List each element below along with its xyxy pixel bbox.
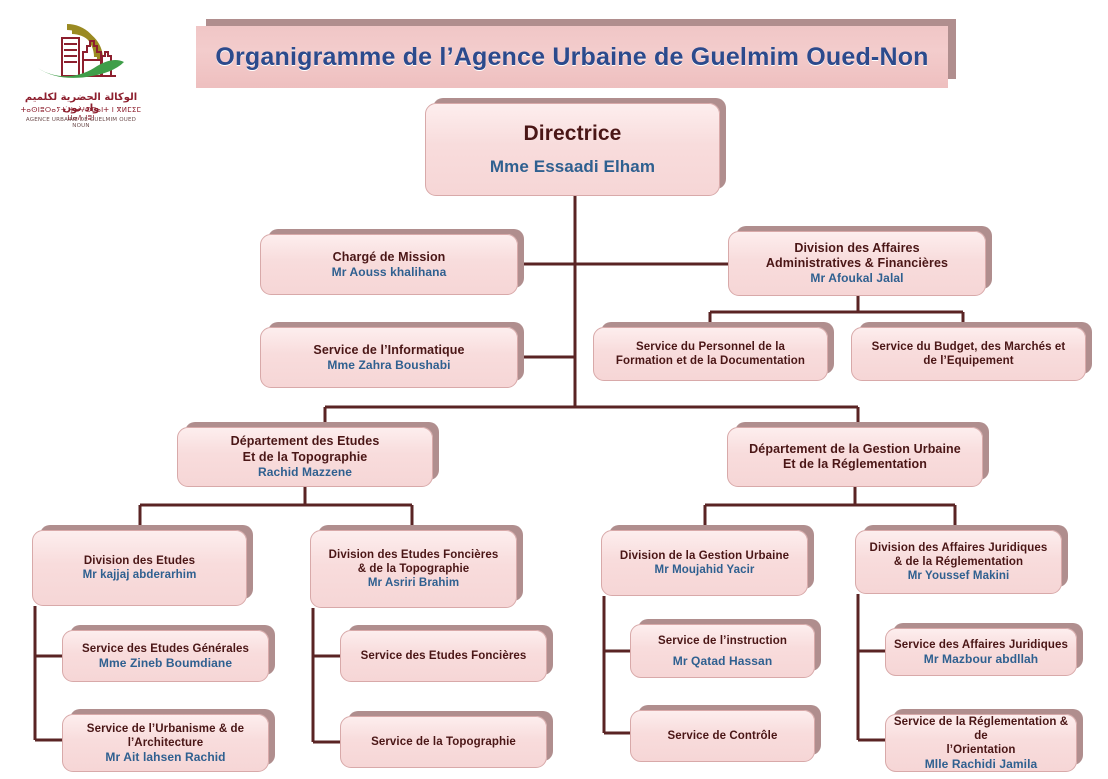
node-role: Service de la Topographie	[371, 735, 516, 749]
node-person: Mlle Rachidi Jamila	[925, 757, 1038, 772]
node-service-controle[interactable]: Service de Contrôle	[630, 710, 815, 762]
node-person: Mme Zahra Boushabi	[327, 358, 450, 373]
node-role-line1: Division des Etudes Foncières	[329, 548, 499, 562]
node-charge-de-mission[interactable]: Chargé de Mission Mr Aouss khalihana	[260, 234, 518, 295]
node-division-etudes[interactable]: Division des Etudes Mr kajjaj abderarhim	[32, 530, 247, 606]
node-division-etudes-foncieres-topographie[interactable]: Division des Etudes Foncières & de la To…	[310, 530, 517, 608]
node-service-reglementation-orientation[interactable]: Service de la Réglementation & de l’Orie…	[885, 714, 1077, 772]
node-role: Service de l’instruction	[658, 634, 787, 648]
node-role: Service des Etudes Foncières	[361, 649, 527, 663]
node-role-line2: l’Architecture	[128, 736, 204, 750]
node-person: Mr Asriri Brahim	[368, 576, 459, 590]
node-role-line1: Service de l’Urbanisme & de	[87, 722, 244, 736]
node-person: Mr Ait lahsen Rachid	[105, 750, 225, 765]
node-role-line1: Service de la Réglementation & de	[886, 715, 1076, 743]
node-role: Service de l’Informatique	[313, 343, 464, 358]
node-person: Mr Qatad Hassan	[673, 654, 773, 669]
node-division-affaires-administratives-financieres[interactable]: Division des Affaires Administratives & …	[728, 231, 986, 296]
page-title: Organigramme de l’Agence Urbaine de Guel…	[215, 43, 928, 72]
node-division-affaires-juridiques-reglementation[interactable]: Division des Affaires Juridiques & de la…	[855, 530, 1062, 594]
node-role: Division des Etudes	[84, 554, 195, 568]
chart-title-banner: Organigramme de l’Agence Urbaine de Guel…	[196, 26, 948, 88]
node-service-topographie[interactable]: Service de la Topographie	[340, 716, 547, 768]
node-person: Mr Youssef Makini	[908, 569, 1010, 583]
node-division-gestion-urbaine[interactable]: Division de la Gestion Urbaine Mr Moujah…	[601, 530, 808, 596]
node-service-informatique[interactable]: Service de l’Informatique Mme Zahra Bous…	[260, 327, 518, 388]
node-role: Directrice	[524, 121, 622, 147]
node-role-line1: Service du Budget, des Marchés et	[872, 340, 1066, 354]
node-role-line1: Service du Personnel de la	[636, 340, 785, 354]
node-person: Mr Moujahid Yacir	[655, 563, 755, 577]
logo-mark-icon	[20, 18, 142, 96]
node-role: Service des Affaires Juridiques	[894, 638, 1068, 652]
organigramme-canvas: الوكالة الحضرية لكلميم واد نون ⵜⴰⵙⵏⵓⵔⴰⵢⵜ…	[0, 0, 1108, 779]
node-person: Mme Essaadi Elham	[490, 157, 655, 178]
node-person: Mr Afoukal Jalal	[810, 271, 903, 286]
node-role: Chargé de Mission	[333, 250, 446, 265]
node-directrice[interactable]: Directrice Mme Essaadi Elham	[425, 103, 720, 196]
node-service-personnel-formation-documentation[interactable]: Service du Personnel de la Formation et …	[593, 327, 828, 381]
node-person: Rachid Mazzene	[258, 465, 352, 480]
node-departement-gestion-urbaine-reglementation[interactable]: Département de la Gestion Urbaine Et de …	[727, 427, 983, 487]
node-departement-etudes-topographie[interactable]: Département des Etudes Et de la Topograp…	[177, 427, 433, 487]
node-role-line1: Division des Affaires	[794, 241, 919, 256]
node-role: Service de Contrôle	[668, 729, 778, 743]
node-role-line2: & de la Réglementation	[894, 555, 1023, 569]
node-role-line2: Et de la Réglementation	[783, 457, 927, 472]
node-person: Mr Aouss khalihana	[332, 265, 447, 280]
node-role: Service des Etudes Générales	[82, 642, 249, 656]
node-service-affaires-juridiques[interactable]: Service des Affaires Juridiques Mr Mazbo…	[885, 628, 1077, 676]
node-service-urbanisme-architecture[interactable]: Service de l’Urbanisme & de l’Architectu…	[62, 714, 269, 772]
node-role: Division de la Gestion Urbaine	[620, 549, 789, 563]
logo-latin-text: AGENCE URBAINE DE GUELMIM OUED NOUN	[20, 117, 142, 129]
node-role-line2: Administratives & Financières	[766, 256, 948, 271]
node-service-etudes-generales[interactable]: Service des Etudes Générales Mme Zineb B…	[62, 630, 269, 682]
node-role-line1: Division des Affaires Juridiques	[870, 541, 1048, 555]
node-role-line1: Département de la Gestion Urbaine	[749, 442, 961, 457]
node-role-line2: l’Orientation	[946, 743, 1015, 757]
agency-logo: الوكالة الحضرية لكلميم واد نون ⵜⴰⵙⵏⵓⵔⴰⵢⵜ…	[20, 18, 142, 136]
node-role-line2: & de la Topographie	[358, 562, 470, 576]
node-role-line2: Et de la Topographie	[243, 450, 368, 465]
node-service-etudes-foncieres[interactable]: Service des Etudes Foncières	[340, 630, 547, 682]
node-person: Mr kajjaj abderarhim	[83, 568, 197, 582]
node-role-line2: de l’Equipement	[923, 354, 1013, 368]
node-role-line2: Formation et de la Documentation	[616, 354, 805, 368]
node-service-instruction[interactable]: Service de l’instruction Mr Qatad Hassan	[630, 624, 815, 678]
node-role-line1: Département des Etudes	[231, 434, 380, 449]
node-service-budget-marches-equipement[interactable]: Service du Budget, des Marchés et de l’E…	[851, 327, 1086, 381]
node-person: Mme Zineb Boumdiane	[99, 656, 232, 671]
node-person: Mr Mazbour abdllah	[924, 652, 1038, 667]
